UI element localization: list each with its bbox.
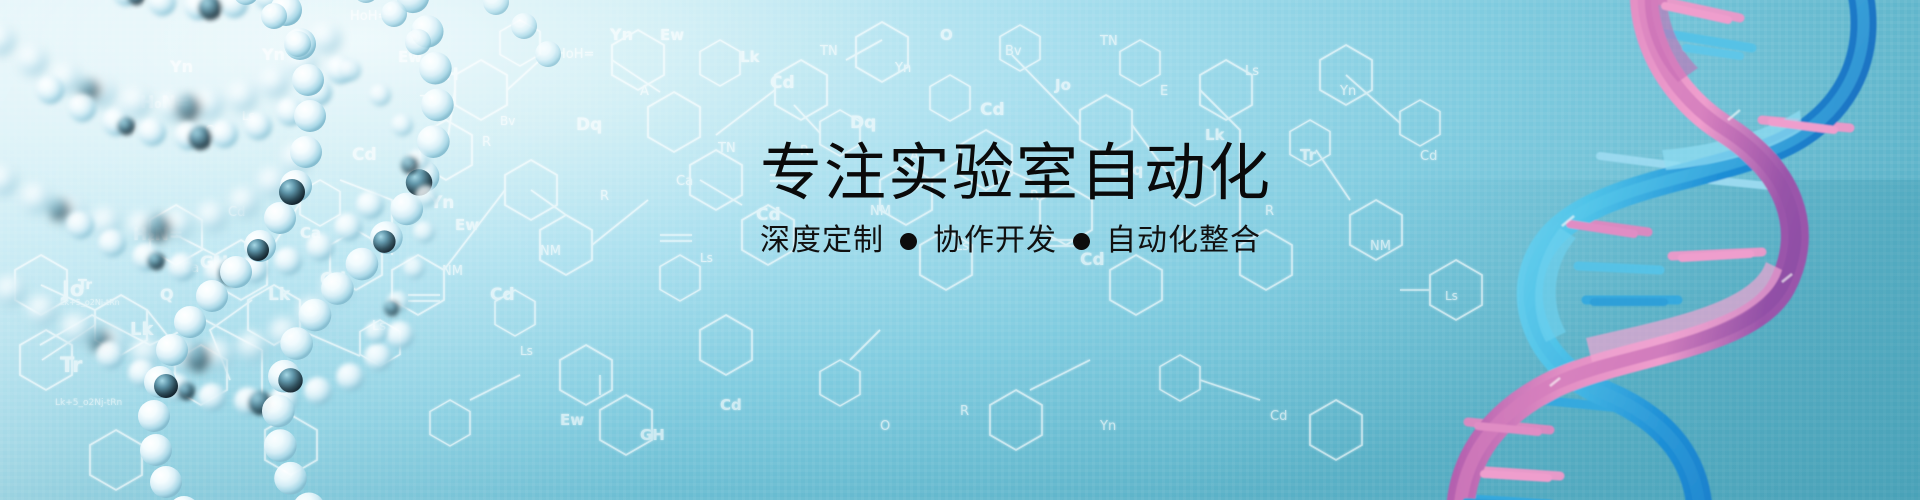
banner-subtitle: 深度定制 协作开发 自动化整合 [760, 223, 1520, 259]
svg-text:Ls: Ls [700, 251, 713, 265]
svg-text:Jo: Jo [1054, 76, 1071, 94]
svg-text:Bv: Bv [500, 114, 515, 128]
svg-text:Ew: Ew [398, 48, 422, 66]
svg-text:NM: NM [442, 264, 463, 279]
svg-text:Bv: Bv [1005, 44, 1022, 59]
svg-text:HoH=: HoH= [556, 47, 594, 62]
svg-text:Lk+5_o2Nj-tRn: Lk+5_o2Nj-tRn [55, 398, 122, 408]
svg-text:Ca: Ca [182, 261, 199, 276]
svg-text:Cd: Cd [320, 269, 346, 290]
svg-text:R: R [482, 135, 491, 150]
svg-text:Ls: Ls [372, 319, 386, 334]
svg-text:TN: TN [819, 44, 838, 59]
svg-text:TN: TN [717, 141, 736, 156]
banner-text-block: 专注实验室自动化 深度定制 协作开发 自动化整合 [760, 140, 1520, 259]
svg-text:Ew: Ew [660, 26, 684, 44]
banner-headline: 专注实验室自动化 [760, 140, 1520, 205]
bullet-separator-icon [900, 233, 917, 250]
svg-text:Yn: Yn [261, 45, 285, 64]
svg-text:TN: TN [1099, 34, 1118, 49]
svg-text:Cd: Cd [228, 205, 245, 220]
svg-text:O: O [940, 26, 953, 44]
svg-text:Yn: Yn [894, 61, 911, 76]
svg-text:Lk: Lk [268, 285, 291, 305]
svg-text:A: A [640, 84, 649, 99]
svg-text:Yn: Yn [429, 193, 454, 213]
svg-text:Ca: Ca [205, 124, 222, 139]
svg-text:Lk: Lk [740, 48, 761, 66]
svg-text:A: A [255, 240, 263, 253]
svg-text:R: R [960, 404, 969, 419]
svg-text:Yn: Yn [169, 57, 193, 76]
svg-text:H₀N=: H₀N= [140, 93, 190, 113]
hero-banner: Jo Tr Lk+5_o2Nj-tRn Tr Lk+5_o2Nj-tRn Lk … [0, 0, 1920, 500]
svg-text:E: E [1160, 84, 1168, 99]
svg-text:Cd: Cd [490, 285, 515, 305]
svg-text:Yn: Yn [1339, 84, 1356, 99]
svg-text:Cd: Cd [352, 145, 377, 165]
svg-text:Lk: Lk [130, 319, 154, 340]
bullet-separator-icon [1073, 233, 1090, 250]
pearl-dna-helix [0, 0, 660, 500]
svg-text:TN: TN [419, 94, 438, 109]
svg-text:Ca: Ca [300, 224, 321, 242]
subtitle-segment-3: 自动化整合 [1106, 223, 1261, 259]
svg-text:Ls: Ls [1445, 289, 1458, 303]
svg-text:Ew: Ew [455, 216, 479, 234]
svg-text:O: O [880, 419, 890, 434]
svg-text:Ls: Ls [242, 109, 255, 123]
svg-text:Dq: Dq [850, 113, 876, 133]
svg-text:Ca: Ca [676, 174, 693, 189]
svg-text:Ls: Ls [1245, 64, 1259, 79]
svg-text:NM: NM [540, 244, 561, 259]
svg-text:OH: OH [430, 65, 459, 85]
svg-text:Yn: Yn [609, 25, 633, 44]
subtitle-segment-2: 协作开发 [933, 223, 1057, 259]
svg-text:Tr: Tr [78, 278, 92, 293]
svg-text:Jo: Jo [60, 277, 84, 301]
svg-text:R: R [600, 189, 609, 204]
svg-text:HoH=: HoH= [350, 9, 388, 24]
svg-text:H₂N=: H₂N= [133, 225, 183, 245]
svg-text:GH: GH [640, 426, 665, 444]
svg-text:Tr: Tr [60, 353, 83, 377]
svg-text:Ew: Ew [560, 411, 584, 429]
svg-text:GH: GH [200, 253, 228, 273]
svg-text:Cd: Cd [770, 73, 795, 93]
svg-text:Yn: Yn [1099, 419, 1116, 434]
svg-text:Cd: Cd [720, 396, 742, 414]
svg-text:Dq: Dq [576, 115, 602, 135]
svg-text:Ls: Ls [520, 344, 533, 358]
svg-text:Q: Q [160, 285, 174, 304]
svg-text:Lk+5_o2Nj-tRn: Lk+5_o2Nj-tRn [60, 298, 120, 307]
subtitle-segment-1: 深度定制 [760, 223, 884, 259]
svg-text:Cd: Cd [980, 100, 1005, 120]
svg-text:Cd: Cd [1270, 409, 1287, 424]
